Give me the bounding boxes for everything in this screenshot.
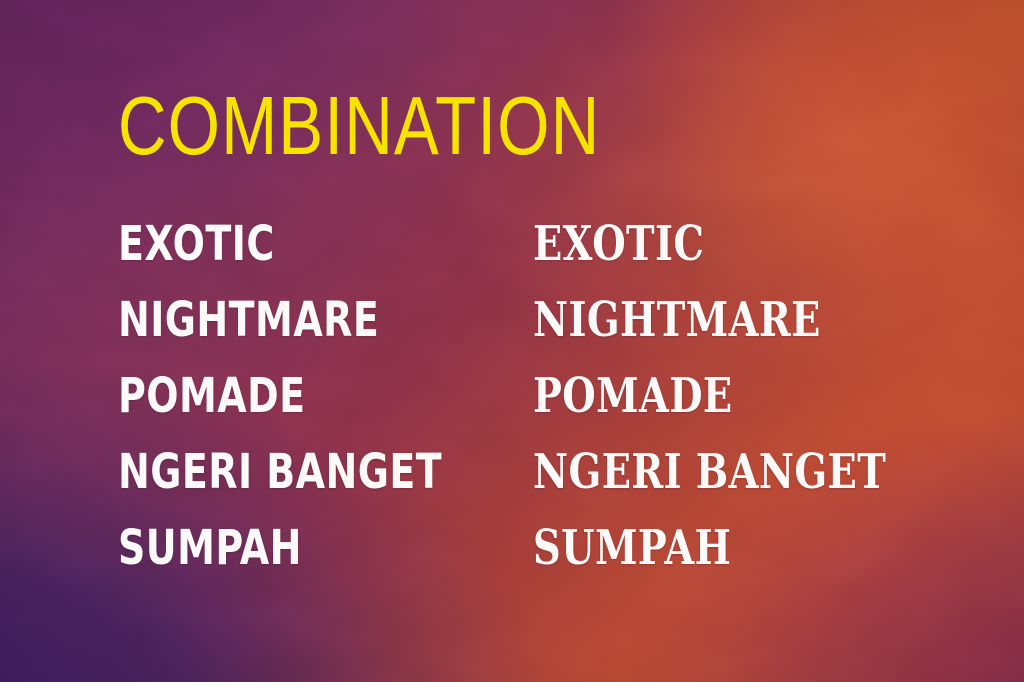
word-row: SUMPAH xyxy=(533,510,975,586)
specimen-word: NIGHTMARE xyxy=(533,296,821,344)
specimen-word: SUMPAH xyxy=(118,524,302,572)
specimen-word: NGERI BANGET xyxy=(533,448,886,496)
specimen-column-left: EXOTIC NIGHTMARE POMADE NGERI BANGET SUM… xyxy=(118,206,486,586)
word-row: POMADE xyxy=(118,358,486,434)
word-row: NIGHTMARE xyxy=(533,282,975,358)
word-row: EXOTIC xyxy=(118,206,486,282)
word-row: POMADE xyxy=(533,358,975,434)
specimen-word: NGERI BANGET xyxy=(118,448,442,496)
specimen-word: EXOTIC xyxy=(118,220,275,268)
word-row: SUMPAH xyxy=(118,510,486,586)
specimen-word: SUMPAH xyxy=(533,524,731,572)
poster-content: COMBINATION EXOTIC NIGHTMARE POMADE NGER… xyxy=(0,0,1024,682)
word-row: EXOTIC xyxy=(533,206,975,282)
word-row: NGERI BANGET xyxy=(118,434,486,510)
specimen-word: NIGHTMARE xyxy=(118,296,379,344)
word-row: NGERI BANGET xyxy=(533,434,975,510)
font-specimen-poster: COMBINATION EXOTIC NIGHTMARE POMADE NGER… xyxy=(0,0,1024,682)
specimen-columns: EXOTIC NIGHTMARE POMADE NGERI BANGET SUM… xyxy=(0,206,1024,606)
page-title: COMBINATION xyxy=(118,84,601,167)
specimen-column-right: EXOTIC NIGHTMARE POMADE NGERI BANGET SUM… xyxy=(533,206,975,586)
specimen-word: POMADE xyxy=(533,372,733,420)
specimen-word: POMADE xyxy=(118,372,306,420)
word-row: NIGHTMARE xyxy=(118,282,486,358)
specimen-word: EXOTIC xyxy=(533,220,704,268)
